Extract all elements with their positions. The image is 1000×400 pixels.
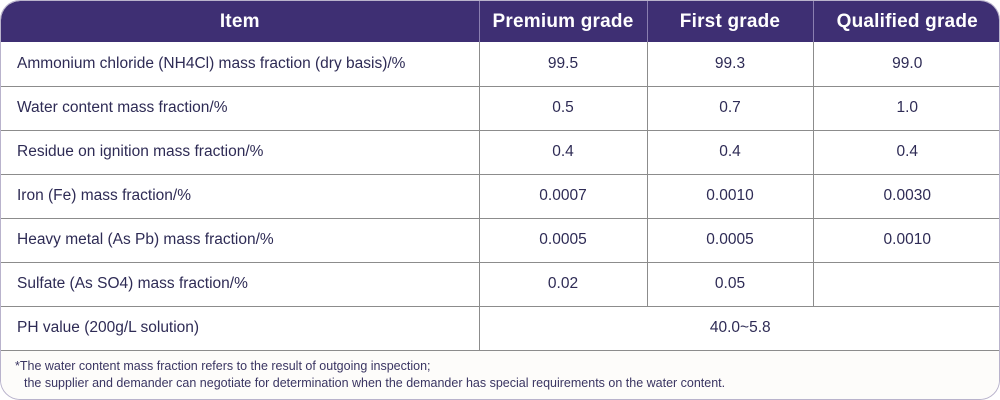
cell-item: Iron (Fe) mass fraction/%: [1, 174, 479, 218]
cell-item: Sulfate (As SO4) mass fraction/%: [1, 262, 479, 306]
cell-qualified: 0.0030: [813, 174, 1000, 218]
column-header-qualified: Qualified grade: [813, 1, 1000, 42]
table-footer: *The water content mass fraction refers …: [1, 350, 1000, 400]
table-row: Iron (Fe) mass fraction/% 0.0007 0.0010 …: [1, 174, 1000, 218]
cell-premium: 0.0007: [479, 174, 647, 218]
specification-table-card: Item Premium grade First grade Qualified…: [0, 0, 1000, 400]
cell-first: 0.7: [647, 86, 813, 130]
cell-premium: 99.5: [479, 42, 647, 86]
cell-item: Water content mass fraction/%: [1, 86, 479, 130]
footnote-row: *The water content mass fraction refers …: [1, 350, 1000, 400]
cell-first: 0.0010: [647, 174, 813, 218]
table-body: Ammonium chloride (NH4Cl) mass fraction …: [1, 42, 1000, 350]
cell-premium: 0.0005: [479, 218, 647, 262]
cell-item: PH value (200g/L solution): [1, 306, 479, 350]
column-header-item: Item: [1, 1, 479, 42]
cell-qualified: 0.4: [813, 130, 1000, 174]
table-row: Water content mass fraction/% 0.5 0.7 1.…: [1, 86, 1000, 130]
table-header: Item Premium grade First grade Qualified…: [1, 1, 1000, 42]
table-row: Residue on ignition mass fraction/% 0.4 …: [1, 130, 1000, 174]
cell-ph-value-spanned: 40.0~5.8: [479, 306, 1000, 350]
cell-first: 0.4: [647, 130, 813, 174]
cell-qualified-empty: [813, 262, 1000, 306]
cell-first: 0.05: [647, 262, 813, 306]
table-row: Ammonium chloride (NH4Cl) mass fraction …: [1, 42, 1000, 86]
footnote-line-2: the supplier and demander can negotiate …: [15, 375, 1000, 392]
cell-qualified: 0.0010: [813, 218, 1000, 262]
column-header-first: First grade: [647, 1, 813, 42]
cell-premium: 0.5: [479, 86, 647, 130]
cell-first: 99.3: [647, 42, 813, 86]
cell-qualified: 1.0: [813, 86, 1000, 130]
cell-item: Heavy metal (As Pb) mass fraction/%: [1, 218, 479, 262]
cell-first: 0.0005: [647, 218, 813, 262]
table-row: PH value (200g/L solution) 40.0~5.8: [1, 306, 1000, 350]
table-row: Sulfate (As SO4) mass fraction/% 0.02 0.…: [1, 262, 1000, 306]
specification-table: Item Premium grade First grade Qualified…: [1, 1, 1000, 400]
footnote-cell: *The water content mass fraction refers …: [1, 350, 1000, 400]
table-row: Heavy metal (As Pb) mass fraction/% 0.00…: [1, 218, 1000, 262]
cell-qualified: 99.0: [813, 42, 1000, 86]
header-row: Item Premium grade First grade Qualified…: [1, 1, 1000, 42]
column-header-premium: Premium grade: [479, 1, 647, 42]
cell-item: Residue on ignition mass fraction/%: [1, 130, 479, 174]
cell-premium: 0.02: [479, 262, 647, 306]
cell-item: Ammonium chloride (NH4Cl) mass fraction …: [1, 42, 479, 86]
cell-premium: 0.4: [479, 130, 647, 174]
footnote-line-1: *The water content mass fraction refers …: [15, 358, 1000, 375]
